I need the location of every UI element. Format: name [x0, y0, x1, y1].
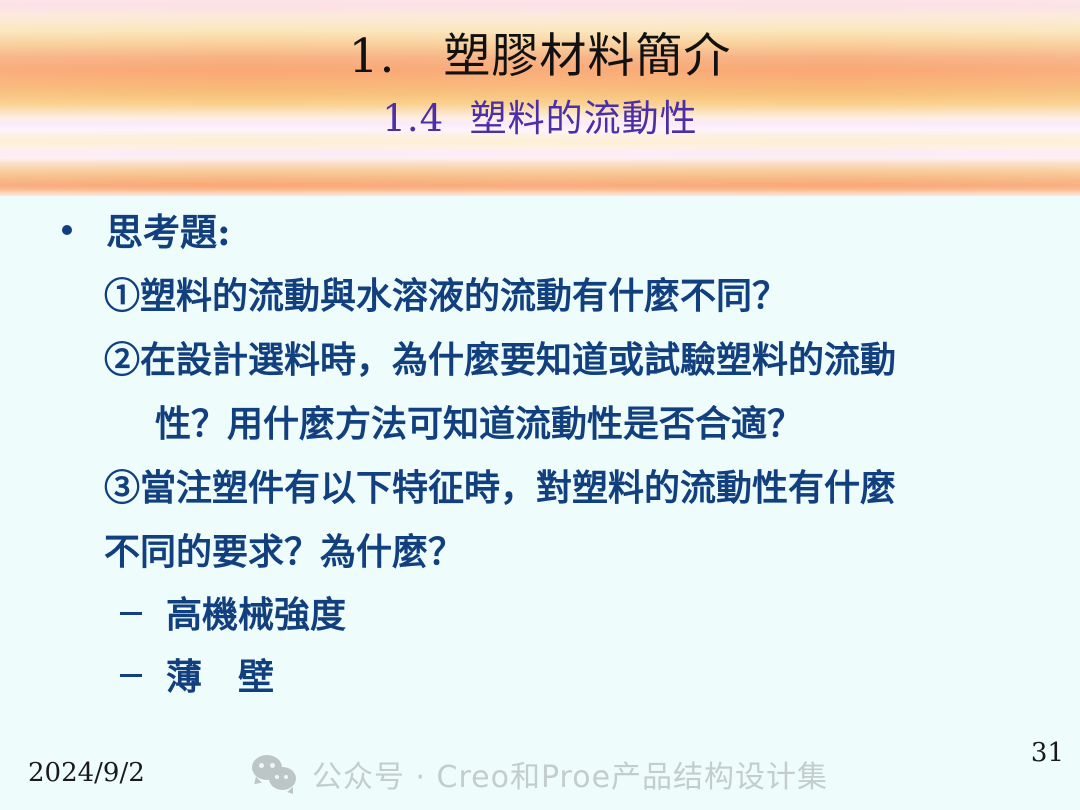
dash-item-label: 高機械強度	[166, 584, 346, 646]
slide-canvas: 1. 塑膠材料簡介 1.4 塑料的流動性 思考題: ①塑料的流動與水溶液的流動有…	[0, 0, 1080, 810]
page-subtitle: 1.4 塑料的流動性	[0, 80, 1080, 137]
list-item: ③當注塑件有以下特征時，對塑料的流動性有什麼	[0, 456, 1080, 520]
list-item: ①塑料的流動與水溶液的流動有什麼不同？	[0, 264, 1080, 328]
bullet-dot-icon	[62, 225, 72, 235]
wechat-eye	[284, 775, 288, 779]
page-number: 31	[1031, 738, 1064, 768]
list-item: 思考題:	[0, 200, 1080, 264]
wechat-icon	[252, 755, 300, 793]
watermark: 公众号 · Creo和Proe产品结构设计集	[0, 752, 1080, 796]
list-item-continuation: 不同的要求？為什麼？	[0, 520, 1080, 584]
list-item: ②在設計選料時，為什麼要知道或試驗塑料的流動	[0, 328, 1080, 392]
footer-date: 2024/9/2	[28, 758, 145, 788]
title-block: 1. 塑膠材料簡介 1.4 塑料的流動性	[0, 0, 1080, 137]
wechat-eye	[270, 763, 275, 768]
wechat-eye	[259, 763, 264, 768]
wechat-eye	[275, 775, 279, 779]
wechat-bubble-back	[252, 755, 282, 780]
list-item-continuation: 性？用什麼方法可知道流動性是否合適？	[0, 392, 1080, 456]
slide-body: 思考題: ①塑料的流動與水溶液的流動有什麼不同？ ②在設計選料時，為什麼要知道或…	[0, 200, 1080, 708]
wechat-bubble-front	[269, 767, 296, 790]
dash-marker-icon	[120, 674, 142, 677]
bullet-label: 思考題:	[106, 200, 231, 264]
list-item: 高機械強度	[0, 584, 1080, 646]
list-item: 薄 壁	[0, 646, 1080, 708]
watermark-label: 公众号 · Creo和Proe产品结构设计集	[312, 752, 828, 796]
dash-item-label: 薄 壁	[166, 646, 274, 708]
dash-marker-icon	[120, 612, 142, 615]
page-title: 1. 塑膠材料簡介	[0, 0, 1080, 80]
